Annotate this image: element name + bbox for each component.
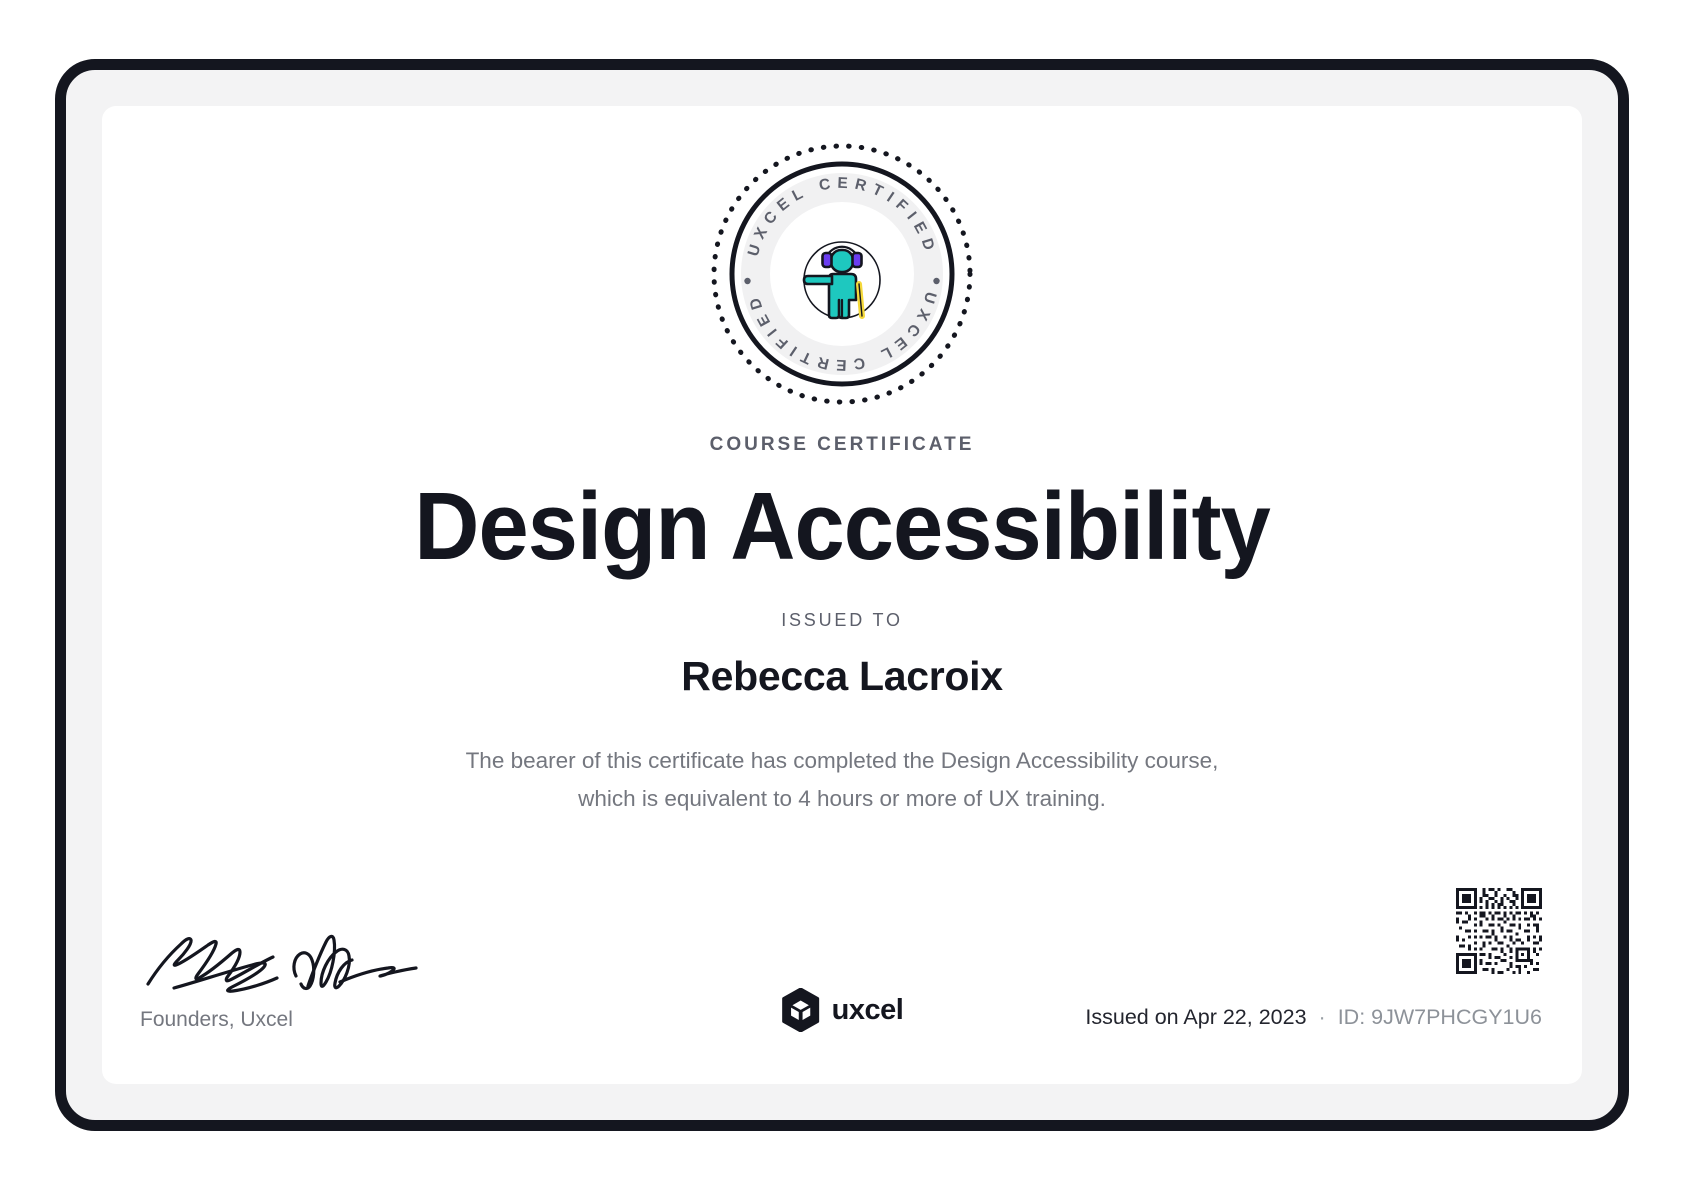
badge-ring-dot-left [744,278,750,284]
badge-ring-dot-right [933,278,939,284]
signature-label: Founders, Uxcel [140,1008,470,1032]
signature-block: Founders, Uxcel [140,910,470,1032]
page-title: Design Accessibility [414,478,1270,576]
uxcel-cube-icon [781,988,821,1032]
meta-separator: · [1313,1005,1332,1029]
certificate-footer: Founders, Uxcel uxcel [102,884,1582,1084]
description-line-1: The bearer of this certificate has compl… [466,742,1219,780]
issue-date: Issued on Apr 22, 2023 [1085,1005,1306,1029]
certificate-page: UXCEL CERTIFIED UXCEL CERTIFIED [0,0,1684,1190]
founders-signature-image [140,910,440,994]
uxcel-wordmark: uxcel [832,994,904,1027]
uxcel-brand-logo: uxcel [781,988,904,1032]
uxcel-certified-badge: UXCEL CERTIFIED UXCEL CERTIFIED [708,140,976,408]
description-line-2: which is equivalent to 4 hours or more o… [466,780,1219,818]
certificate-card: UXCEL CERTIFIED UXCEL CERTIFIED [102,106,1582,1084]
verification-qr-code[interactable] [1456,888,1542,974]
certificate-description: The bearer of this certificate has compl… [466,742,1219,818]
issue-metadata: Issued on Apr 22, 2023 · ID: 9JW7PHCGY1U… [1085,1005,1542,1030]
certificate-frame: UXCEL CERTIFIED UXCEL CERTIFIED [55,59,1629,1131]
issued-to-label: ISSUED TO [781,610,903,631]
recipient-name: Rebecca Lacroix [681,653,1002,700]
certificate-id: ID: 9JW7PHCGY1U6 [1338,1005,1542,1029]
page-kicker: COURSE CERTIFICATE [710,434,975,456]
